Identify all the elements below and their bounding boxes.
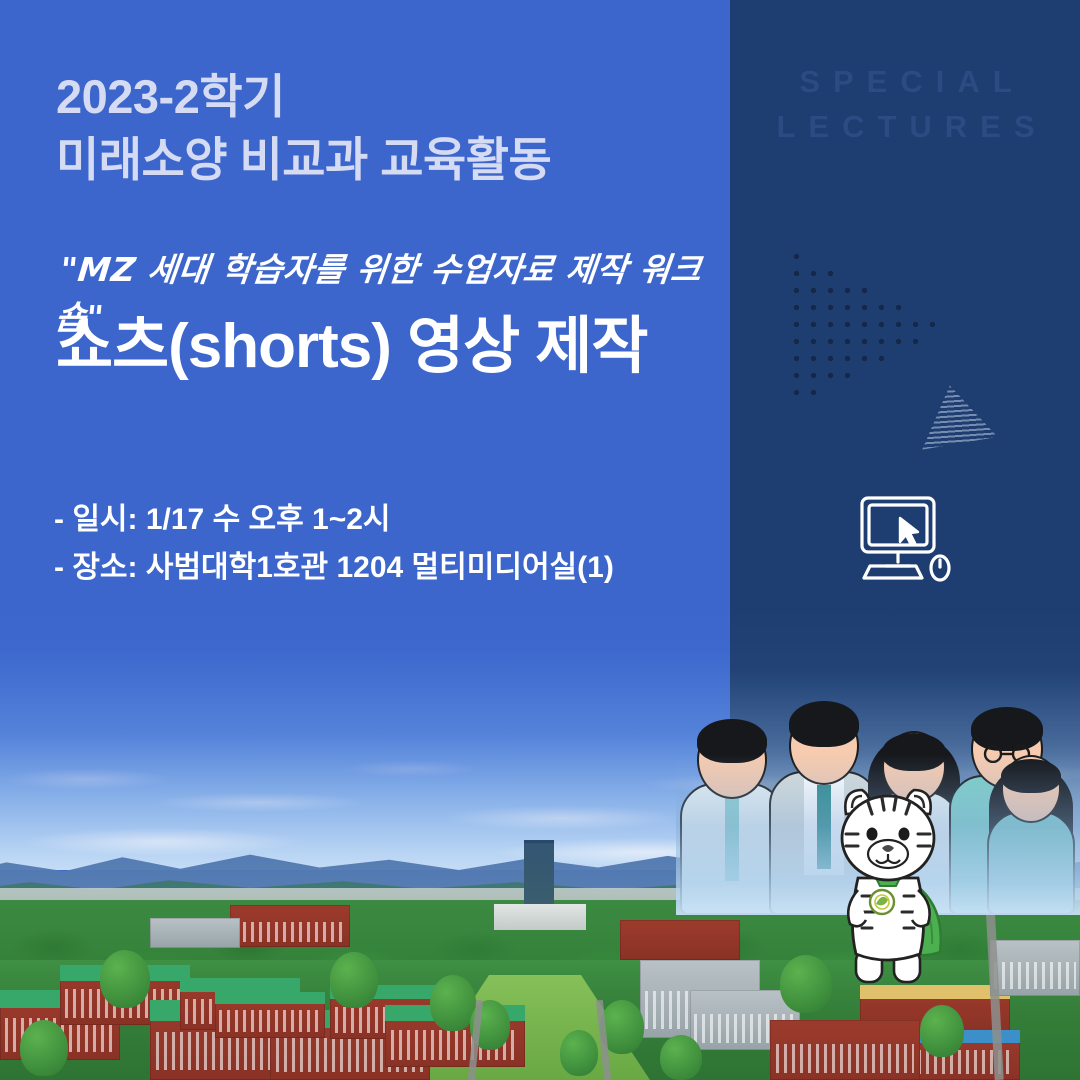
watermark-line-1: SPECIAL <box>752 60 1072 105</box>
person-hair-front <box>1001 759 1061 793</box>
detail-location: - 장소: 사범대학1호관 1204 멀티미디어실(1) <box>54 544 734 592</box>
computer-monitor-icon <box>848 488 960 588</box>
watermark-line-2: LECTURES <box>752 105 1072 150</box>
poster-canvas: SPECIAL LECTURES 2023-2학기 미래소양 비교과 교육활동 … <box>0 0 1080 1080</box>
event-details: - 일시: 1/17 수 오후 1~2시 - 장소: 사범대학1호관 1204 … <box>54 496 734 592</box>
person-woman-teal <box>982 747 1080 915</box>
person-hair <box>789 701 859 747</box>
person-body <box>987 811 1075 915</box>
detail-datetime: - 일시: 1/17 수 오후 1~2시 <box>54 496 734 544</box>
main-heading: 쇼츠(shorts) 영상 제작 <box>56 313 746 381</box>
page-title: 2023-2학기 미래소양 비교과 교육활동 <box>56 66 716 191</box>
person-hair <box>697 719 767 763</box>
person-tie <box>725 795 739 881</box>
white-tiger-mascot <box>812 762 964 992</box>
special-lectures-watermark: SPECIAL LECTURES <box>752 60 1072 150</box>
